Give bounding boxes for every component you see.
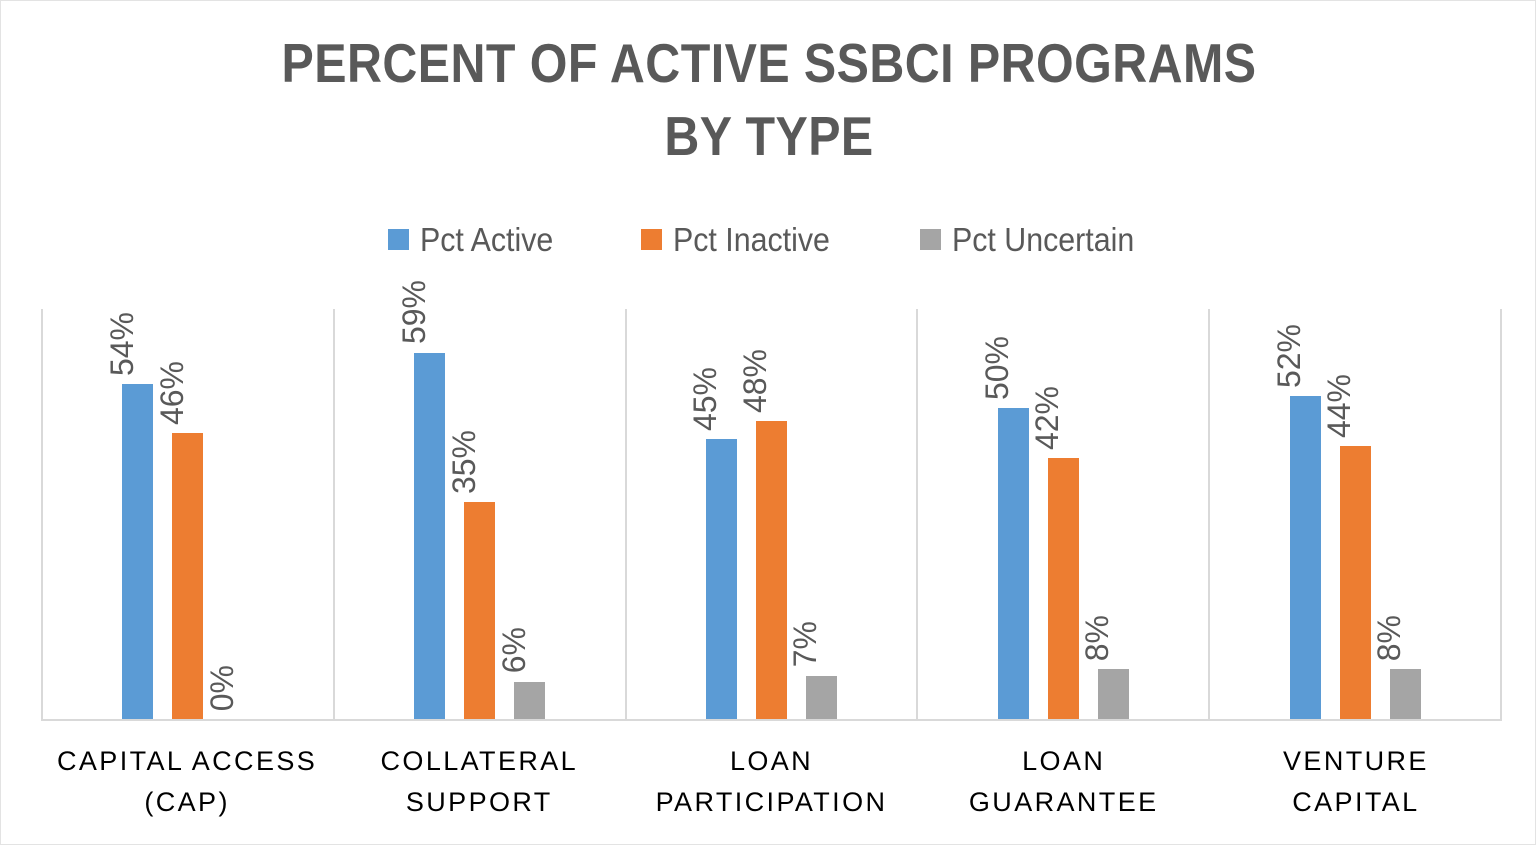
legend-item[interactable]: Pct Active xyxy=(388,223,565,256)
bar-slot: 7% xyxy=(806,309,837,719)
bar[interactable] xyxy=(1290,396,1321,719)
bar[interactable] xyxy=(1098,669,1129,719)
bar-slot: 48% xyxy=(756,309,787,719)
legend-swatch-icon xyxy=(388,229,409,250)
bar[interactable] xyxy=(706,439,737,719)
bar[interactable] xyxy=(514,682,545,719)
bar-value-label: 8% xyxy=(1373,615,1405,661)
bar-value-label: 50% xyxy=(981,336,1013,400)
legend-label: Pct Inactive xyxy=(673,223,830,256)
category-axis: CAPITAL ACCESS (CAP)COLLATERAL SUPPORTLO… xyxy=(41,741,1502,822)
bar[interactable] xyxy=(998,408,1029,719)
legend-item[interactable]: Pct Inactive xyxy=(641,223,844,256)
bar[interactable] xyxy=(806,676,837,719)
bar[interactable] xyxy=(414,353,445,720)
bar-slot: 8% xyxy=(1390,309,1421,719)
bar-group-bars: 45%48%7% xyxy=(627,309,917,719)
bar-value-label: 0% xyxy=(206,665,238,711)
bar-group: 50%42%8% xyxy=(918,309,1210,719)
bar-slot: 44% xyxy=(1340,309,1371,719)
bar[interactable] xyxy=(122,384,153,719)
bar-slot: 46% xyxy=(172,309,203,719)
bar-slot: 8% xyxy=(1098,309,1129,719)
bar-value-label: 42% xyxy=(1031,386,1063,450)
bar-value-label: 7% xyxy=(789,621,821,667)
bar-group: 54%46%0% xyxy=(43,309,335,719)
bar-group-bars: 59%35%6% xyxy=(335,309,625,719)
bar-value-label: 35% xyxy=(448,430,480,494)
bar-slot: 42% xyxy=(1048,309,1079,719)
bar-group-bars: 50%42%8% xyxy=(918,309,1208,719)
bar-value-label: 54% xyxy=(106,312,138,376)
bar-group-bars: 52%44%8% xyxy=(1210,309,1500,719)
bar-value-label: 59% xyxy=(398,280,430,344)
category-label: LOAN PARTICIPATION xyxy=(625,741,917,822)
category-label: VENTURE CAPITAL xyxy=(1210,741,1502,822)
bar-group: 52%44%8% xyxy=(1210,309,1500,719)
bar-value-label: 44% xyxy=(1323,374,1355,438)
bar[interactable] xyxy=(1048,458,1079,719)
bar-slot: 50% xyxy=(998,309,1029,719)
chart-title: PERCENT OF ACTIVE SSBCI PROGRAMS BY TYPE xyxy=(93,27,1445,172)
bar-value-label: 45% xyxy=(689,367,721,431)
legend-swatch-icon xyxy=(641,229,662,250)
bar-value-label: 6% xyxy=(498,627,530,673)
bar[interactable] xyxy=(1340,446,1371,719)
chart-legend: Pct ActivePct InactivePct Uncertain xyxy=(1,223,1536,256)
bar-value-label: 46% xyxy=(156,361,188,425)
bar[interactable] xyxy=(1390,669,1421,719)
bar-slot: 52% xyxy=(1290,309,1321,719)
bar-value-label: 8% xyxy=(1081,615,1113,661)
bar-value-label: 48% xyxy=(739,349,771,413)
bar-slot: 59% xyxy=(414,309,445,719)
category-label: COLLATERAL SUPPORT xyxy=(333,741,625,822)
plot-area: 54%46%0%59%35%6%45%48%7%50%42%8%52%44%8% xyxy=(41,309,1502,721)
bar-group: 59%35%6% xyxy=(335,309,627,719)
bar[interactable] xyxy=(464,502,495,719)
legend-label: Pct Active xyxy=(420,223,553,256)
category-label: LOAN GUARANTEE xyxy=(918,741,1210,822)
category-label: CAPITAL ACCESS (CAP) xyxy=(41,741,333,822)
bar-value-label: 52% xyxy=(1273,324,1305,388)
bar-slot: 35% xyxy=(464,309,495,719)
legend-item[interactable]: Pct Uncertain xyxy=(920,223,1150,256)
bar-group: 45%48%7% xyxy=(627,309,919,719)
bar-group-bars: 54%46%0% xyxy=(43,309,333,719)
bar-slot: 54% xyxy=(122,309,153,719)
bar-slot: 0% xyxy=(222,309,253,719)
bar-slot: 6% xyxy=(514,309,545,719)
bar[interactable] xyxy=(756,421,787,719)
bar-slot: 45% xyxy=(706,309,737,719)
chart-canvas: PERCENT OF ACTIVE SSBCI PROGRAMS BY TYPE… xyxy=(0,0,1536,845)
bar[interactable] xyxy=(172,433,203,719)
legend-label: Pct Uncertain xyxy=(952,223,1134,256)
legend-swatch-icon xyxy=(920,229,941,250)
